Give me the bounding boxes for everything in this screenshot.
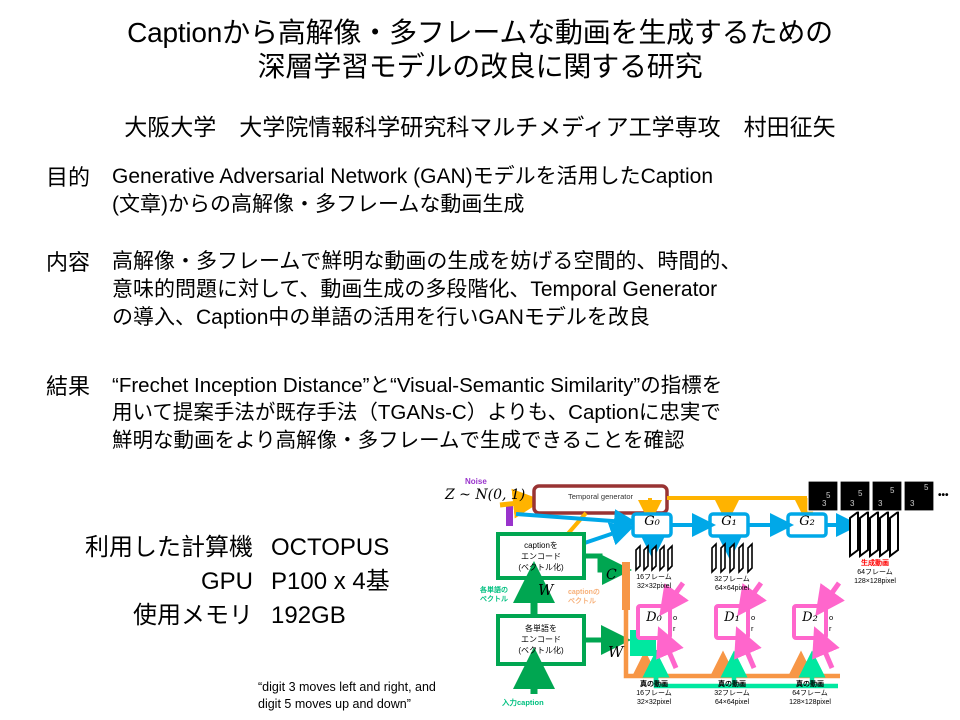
svg-text:3: 3 <box>878 499 883 508</box>
section-content: 内容 高解像・多フレームで鮮明な動画の生成を妨げる空間的、時間的、 意味的問題に… <box>34 248 934 332</box>
discriminator-or-label-d0: o r <box>673 612 677 635</box>
machine-spec-block: 利用した計算機 OCTOPUS GPU P100 x 4基 使用メモリ 192G… <box>38 531 390 633</box>
w-symbol-bottom: W <box>608 644 623 661</box>
frame-stack-16-resolution: 32×32pixel <box>624 582 684 592</box>
real-video-0-resolution: 32×32pixel <box>622 699 686 707</box>
spec-key-memory: 使用メモリ <box>38 599 253 633</box>
real-video-2-title: 真の動画 <box>780 681 840 689</box>
final-output-title: 生成動画 <box>844 560 906 568</box>
spec-key-machine: 利用した計算機 <box>38 531 253 565</box>
section-purpose-label: 目的 <box>34 163 112 192</box>
svg-text:3: 3 <box>910 499 915 508</box>
word-encoder-label: 各単語を エンコード (ベクトル化) <box>500 623 582 656</box>
page-title: Captionから高解像・多フレームな動画を生成するための 深層学習モデルの改良… <box>0 16 960 84</box>
real-video-1-frames: 32フレーム <box>702 690 762 698</box>
noise-formula: Z ~ N(0, 1) <box>445 488 525 504</box>
real-video-0-frames: 16フレーム <box>624 690 684 698</box>
discriminator-or-label-d1: o r <box>751 612 755 635</box>
real-video-to-d1-arrow <box>742 640 754 668</box>
affiliation-line: 大阪大学 大学院情報科学研究科マルチメディア工学専攻 村田征矢 <box>0 108 960 142</box>
section-purpose: 目的 Generative Adversarial Network (GAN)モ… <box>34 163 934 219</box>
svg-text:3: 3 <box>822 499 827 508</box>
section-result-label: 結果 <box>34 372 112 401</box>
discriminator-label-d0: D₀ <box>638 611 670 626</box>
final-output-frames: 64フレーム <box>844 569 906 577</box>
svg-text:3: 3 <box>850 499 855 508</box>
real-video-2-frames: 64フレーム <box>780 690 840 698</box>
section-purpose-body: Generative Adversarial Network (GAN)モデルを… <box>112 163 713 219</box>
real-video-to-d2-arrow <box>820 640 832 668</box>
generator-label-g2: G₂ <box>788 515 826 530</box>
real-video-0-title: 真の動画 <box>624 681 684 689</box>
section-content-label: 内容 <box>34 248 112 277</box>
section-content-body: 高解像・多フレームで鮮明な動画の生成を妨げる空間的、時間的、 意味的問題に対して… <box>112 248 741 332</box>
spec-row: 使用メモリ 192GB <box>38 599 390 633</box>
title-line-1: Captionから高解像・多フレームな動画を生成するための <box>0 16 960 50</box>
caption-vector-label: captionの ベクトル <box>568 588 600 606</box>
spec-key-gpu: GPU <box>38 565 253 599</box>
section-result: 結果 “Frechet Inception Distance”と“Visual-… <box>34 372 944 454</box>
sample-caption-text: “digit 3 moves left and right, and digit… <box>258 679 436 713</box>
final-output-stack <box>850 512 898 556</box>
svg-text:5: 5 <box>890 486 895 495</box>
w-symbol-top: W <box>538 582 553 599</box>
generated-to-d2-arrow <box>824 583 839 604</box>
discriminator-label-d1: D₁ <box>716 611 748 626</box>
section-result-body: “Frechet Inception Distance”と“Visual-Sem… <box>112 372 722 454</box>
svg-text:5: 5 <box>924 483 929 492</box>
generator-label-g1: G₁ <box>710 515 748 530</box>
spec-value-machine: OCTOPUS <box>253 531 389 565</box>
real-video-1-title: 真の動画 <box>702 681 762 689</box>
frame-stack-32-resolution: 64×64pixel <box>702 584 762 594</box>
discriminator-or-label-d2: o r <box>829 612 833 635</box>
diagram-canvas: 3 5 3 5 3 5 3 5 <box>440 478 960 720</box>
temporal-generator-label: Temporal generator <box>543 493 658 501</box>
generator-label-g0: G₀ <box>633 515 671 530</box>
word-vector-label: 各単語の ベクトル <box>480 586 508 604</box>
spec-row: GPU P100 x 4基 <box>38 565 390 599</box>
svg-text:5: 5 <box>858 489 863 498</box>
caption-encoder-label: captionを エンコード (ベクトル化) <box>500 540 582 573</box>
c-symbol: C <box>606 568 617 584</box>
final-output-resolution: 128×128pixel <box>838 578 912 586</box>
discriminator-label-d2: D₂ <box>794 611 826 626</box>
sample-frames-strip: 3 5 3 5 3 5 3 5 <box>808 481 934 511</box>
noise-label: Noise <box>465 478 487 487</box>
title-line-2: 深層学習モデルの改良に関する研究 <box>0 50 960 84</box>
spec-value-memory: 192GB <box>253 599 346 633</box>
noise-vector-bar <box>506 505 513 526</box>
frame-stack-16 <box>636 546 672 570</box>
svg-text:5: 5 <box>826 491 831 500</box>
real-video-2-resolution: 128×128pixel <box>776 699 844 707</box>
spec-row: 利用した計算機 OCTOPUS <box>38 531 390 565</box>
sample-frames-ellipsis: ••• <box>938 490 949 501</box>
real-video-1-resolution: 64×64pixel <box>700 699 764 707</box>
real-video-to-d0-arrow <box>664 640 676 668</box>
noise-to-g0-arrow <box>516 514 626 522</box>
model-architecture-diagram: 3 5 3 5 3 5 3 5 Noise Z ~ N(0, 1) Tempor… <box>440 478 960 720</box>
spec-value-gpu: P100 x 4基 <box>253 565 390 599</box>
frame-stack-32 <box>712 544 752 572</box>
input-caption-label: 入力caption <box>502 699 544 707</box>
